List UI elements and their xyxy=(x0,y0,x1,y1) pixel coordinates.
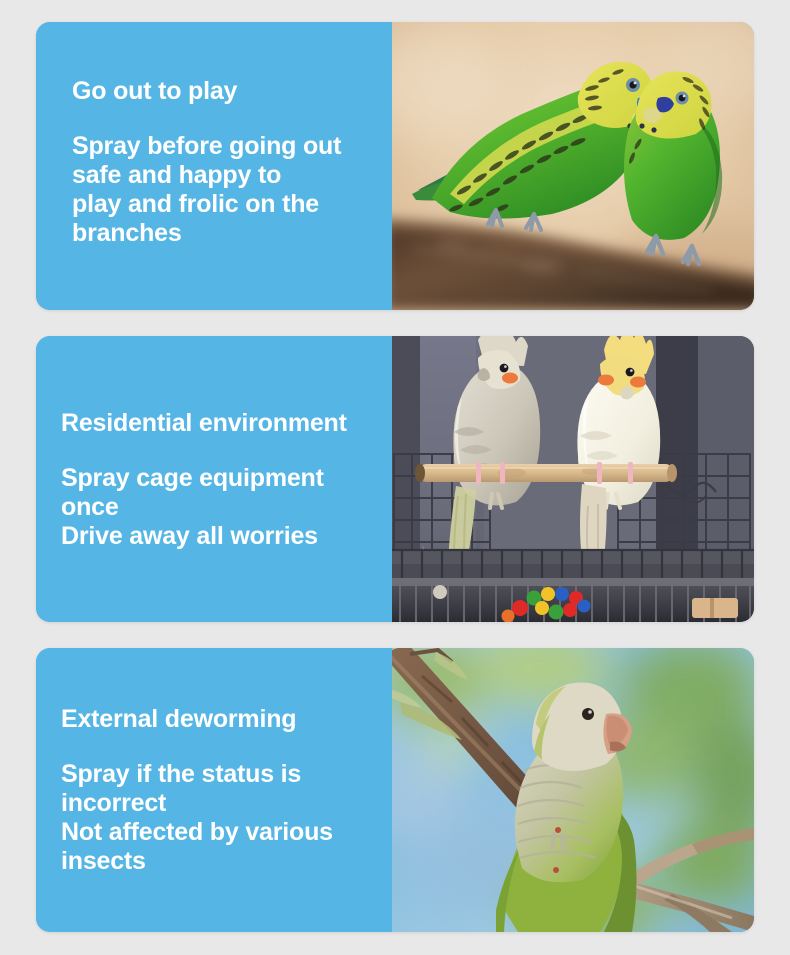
feature-card-go-out-to-play: Go out to play Spray before going out sa… xyxy=(36,22,754,310)
monk-parakeet-photo-illustration xyxy=(392,648,754,932)
card-title: Residential environment xyxy=(61,408,376,438)
card-title: External deworming xyxy=(61,704,376,734)
card-body: Spray before going out safe and happy to… xyxy=(72,132,376,248)
card-text-block: External deworming Spray if the status i… xyxy=(36,648,392,932)
photo-two-green-budgerigars-on-branch xyxy=(392,22,754,310)
cockatiel-photo-illustration xyxy=(392,336,754,622)
budgerigar-photo-illustration xyxy=(392,22,754,310)
card-title: Go out to play xyxy=(72,76,376,106)
photo-two-cockatiels-on-perch-above-cage xyxy=(392,336,754,622)
card-text-block: Residential environment Spray cage equip… xyxy=(36,336,392,622)
photo-monk-parakeet-on-branch-blue-sky xyxy=(392,648,754,932)
feature-card-external-deworming: External deworming Spray if the status i… xyxy=(36,648,754,932)
feature-cards-page: Go out to play Spray before going out sa… xyxy=(0,0,790,955)
card-body: Spray if the status is incorrect Not aff… xyxy=(61,760,376,876)
card-text-block: Go out to play Spray before going out sa… xyxy=(36,22,392,310)
feature-card-residential-environment: Residential environment Spray cage equip… xyxy=(36,336,754,622)
card-body: Spray cage equipment once Drive away all… xyxy=(61,464,376,551)
